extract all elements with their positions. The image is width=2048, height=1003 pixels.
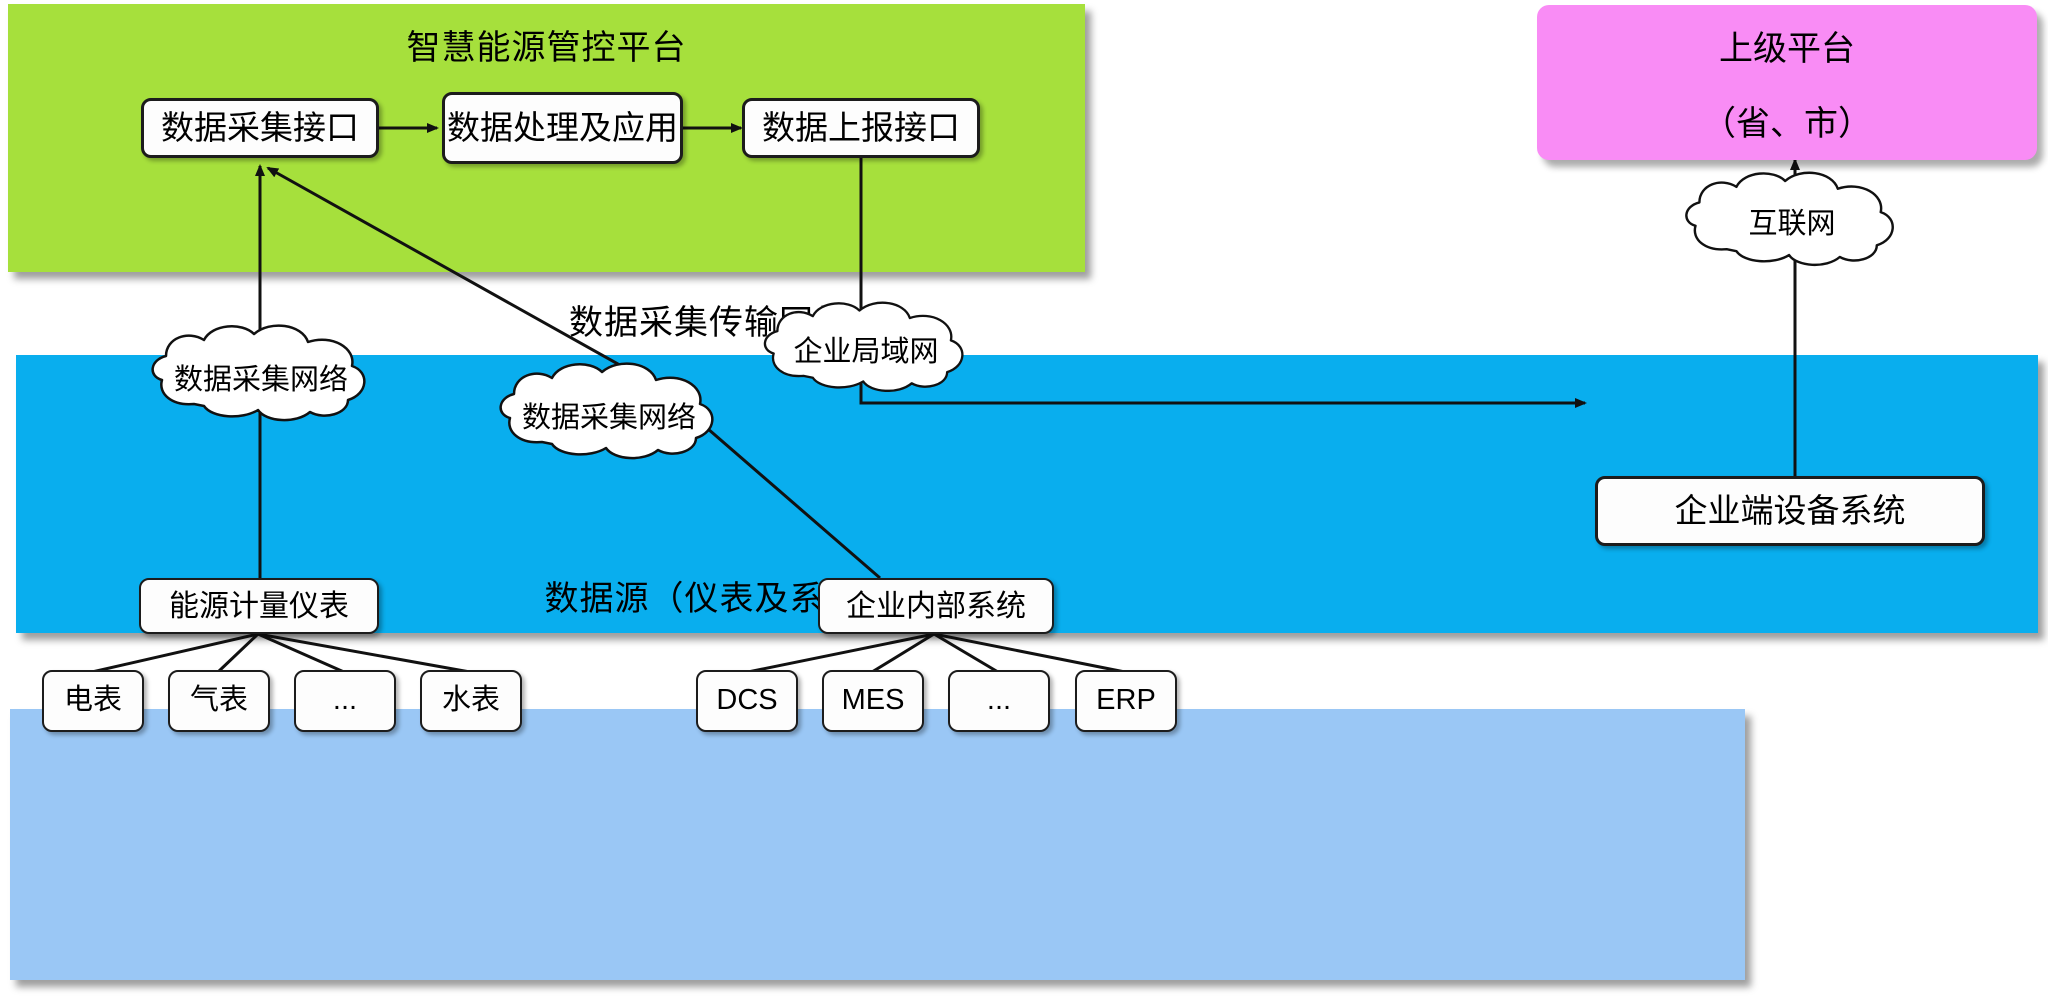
node-meter-water[interactable]: 水表 [420,670,522,732]
cloud-internet[interactable]: 互联网 [1676,168,1908,268]
node-system-mes[interactable]: MES [822,670,924,732]
node-report-interface[interactable]: 数据上报接口 [742,98,980,158]
node-process-apply[interactable]: 数据处理及应用 [442,92,683,164]
node-system-dcs[interactable]: DCS [696,670,798,732]
cloud-internet-label: 互联网 [1676,200,1908,242]
cloud-collect-network-mid[interactable]: 数据采集网络 [490,360,728,460]
cloud-collect-network-left[interactable]: 数据采集网络 [142,322,380,422]
node-meter-gas[interactable]: 气表 [168,670,270,732]
upper-platform-line2: （省、市） [1702,96,1872,145]
node-enterprise-internal-systems[interactable]: 企业内部系统 [818,578,1054,634]
architecture-diagram: 智慧能源管控平台 数据采集传输网络 数据源（仪表及系统） [0,0,2048,1003]
cloud-collect-network-left-label: 数据采集网络 [142,356,380,398]
cloud-enterprise-lan[interactable]: 企业局域网 [755,298,977,394]
node-enterprise-device-system[interactable]: 企业端设备系统 [1595,476,1985,546]
node-collect-interface[interactable]: 数据采集接口 [141,98,379,158]
cloud-collect-network-mid-label: 数据采集网络 [490,394,728,436]
node-upper-platform[interactable]: 上级平台 （省、市） [1537,5,2037,160]
node-energy-meters[interactable]: 能源计量仪表 [139,578,379,634]
upper-platform-line1: 上级平台 [1719,21,1855,70]
band-platform-title: 智慧能源管控平台 [8,20,1085,69]
node-system-erp[interactable]: ERP [1075,670,1177,732]
node-system-more[interactable]: ... [948,670,1050,732]
node-meter-more[interactable]: ... [294,670,396,732]
band-source: 数据源（仪表及系统） [10,709,1745,980]
node-meter-electric[interactable]: 电表 [42,670,144,732]
cloud-enterprise-lan-label: 企业局域网 [755,328,977,370]
